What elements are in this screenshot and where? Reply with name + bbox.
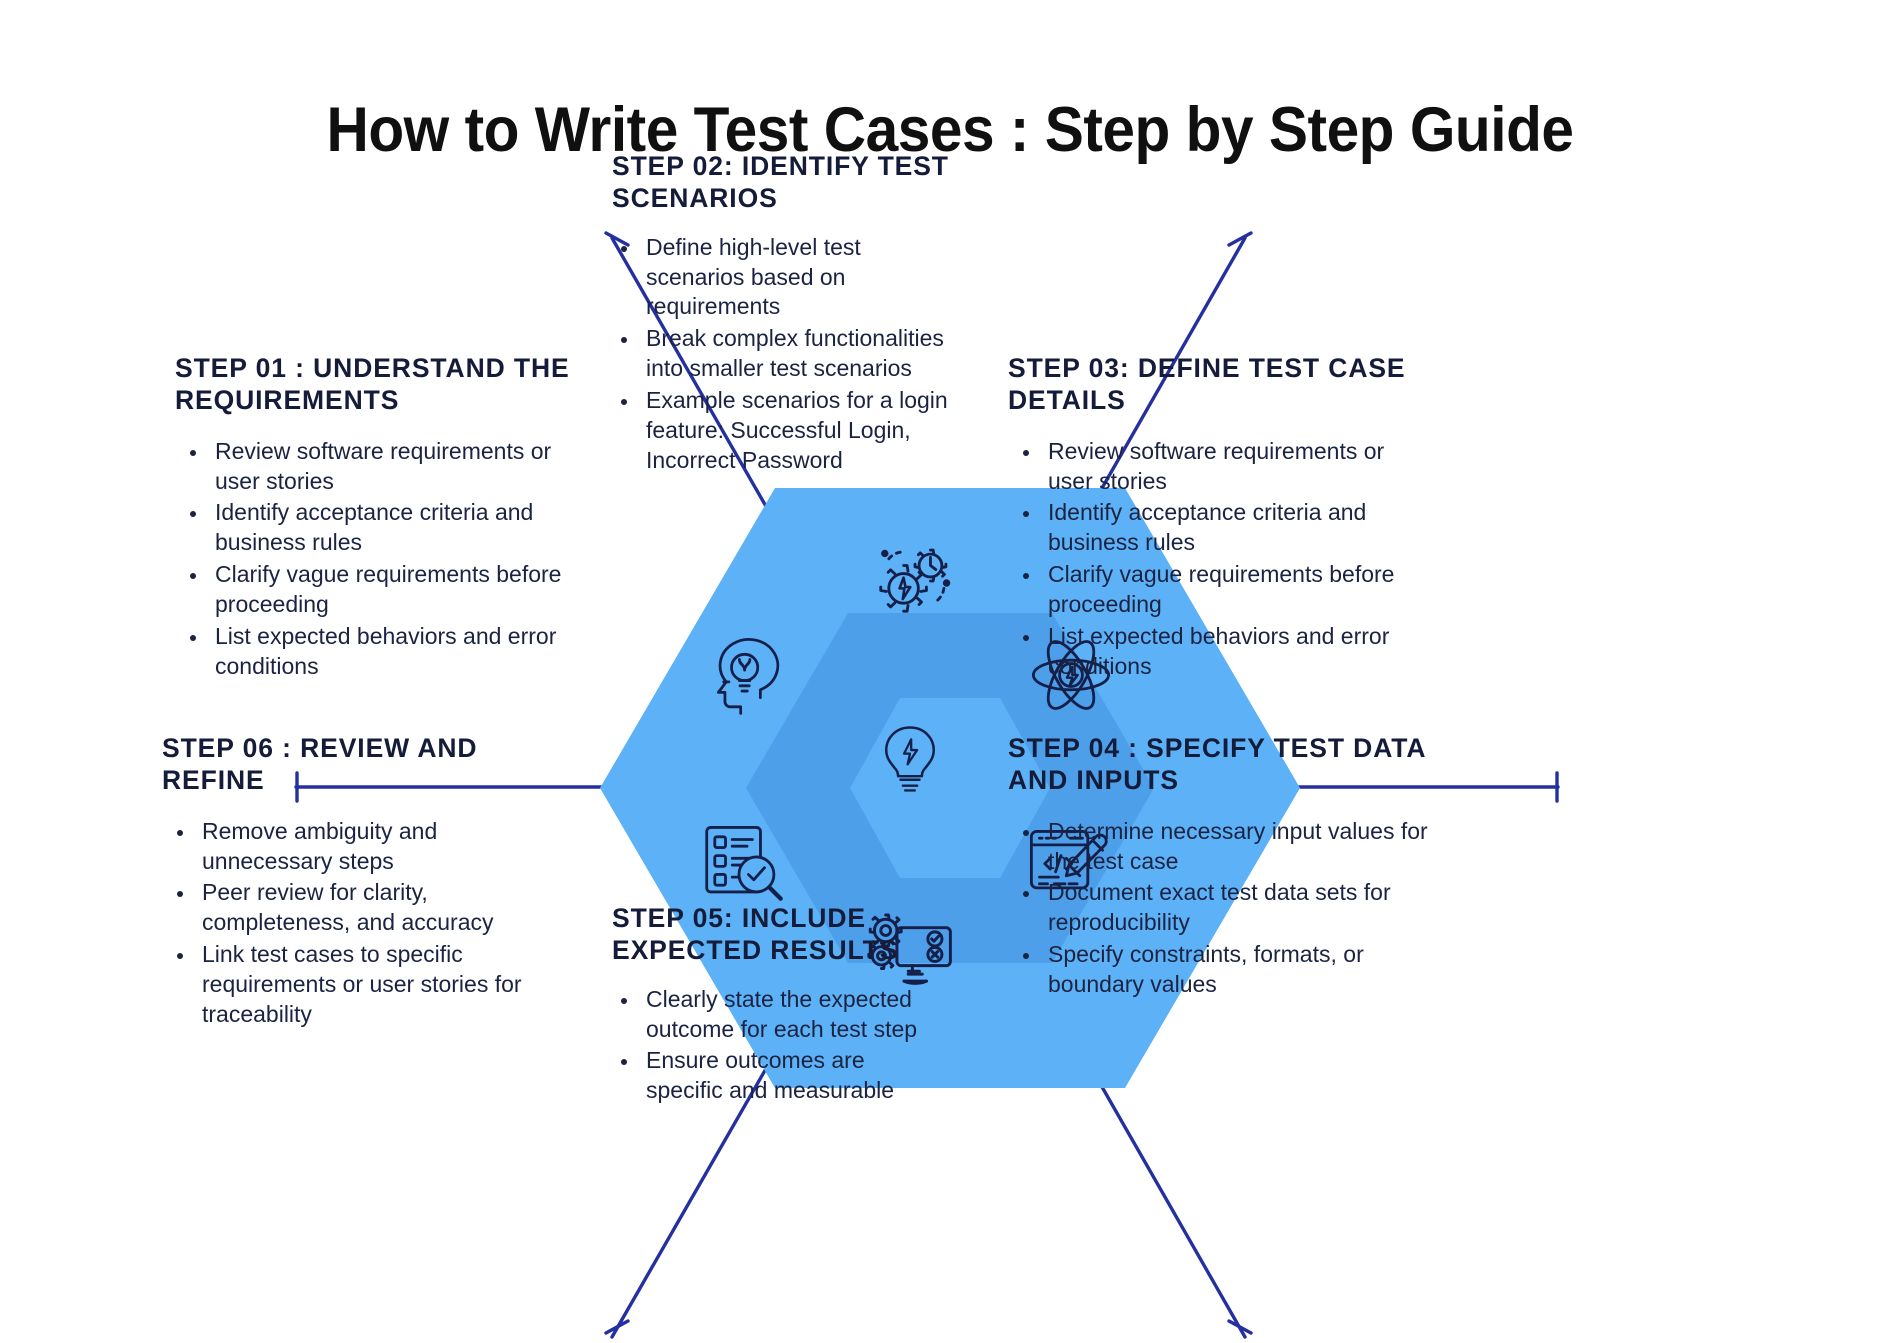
step-block-05: STEP 05: INCLUDE EXPECTED RESULTS Clearl…: [612, 902, 942, 1108]
step-block-02: STEP 02: IDENTIFY TEST SCENARIOS Define …: [612, 150, 952, 478]
list-item: List expected behaviors and error condit…: [1042, 622, 1408, 682]
step-06-bullets: Remove ambiguity and unnecessary steps P…: [162, 817, 562, 1030]
list-item: Clarify vague requirements before procee…: [1042, 560, 1408, 620]
lightbulb-energy-icon: [872, 718, 948, 794]
list-item: Clearly state the expected outcome for e…: [640, 985, 942, 1045]
step-05-bullets: Clearly state the expected outcome for e…: [612, 985, 942, 1107]
step-04-bullets: Determine necessary input values for the…: [1008, 817, 1428, 1000]
step-02-bullets: Define high-level test scenarios based o…: [612, 233, 952, 476]
gears-energy-icon: [870, 540, 956, 626]
list-item: Determine necessary input values for the…: [1042, 817, 1428, 877]
step-03-bullets: Review software requirements or user sto…: [1008, 437, 1408, 682]
list-item: Clarify vague requirements before procee…: [209, 560, 575, 620]
step-02-heading: STEP 02: IDENTIFY TEST SCENARIOS: [612, 150, 952, 215]
step-01-bullets: Review software requirements or user sto…: [175, 437, 575, 682]
step-05-heading: STEP 05: INCLUDE EXPECTED RESULTS: [612, 902, 942, 967]
list-item: Review software requirements or user sto…: [209, 437, 575, 497]
checklist-magnifier-icon: [700, 818, 786, 904]
list-item: Example scenarios for a login feature: S…: [640, 386, 952, 476]
step-06-heading: STEP 06 : REVIEW AND REFINE: [162, 732, 562, 797]
step-01-heading: STEP 01 : UNDERSTAND THE REQUIREMENTS: [175, 352, 575, 417]
step-block-01: STEP 01 : UNDERSTAND THE REQUIREMENTS Re…: [175, 352, 575, 684]
list-item: Ensure outcomes are specific and measura…: [640, 1046, 942, 1106]
list-item: Specify constraints, formats, or boundar…: [1042, 940, 1428, 1000]
list-item: Peer review for clarity, completeness, a…: [196, 878, 562, 938]
list-item: Define high-level test scenarios based o…: [640, 233, 952, 323]
list-item: Document exact test data sets for reprod…: [1042, 878, 1428, 938]
step-03-heading: STEP 03: DEFINE TEST CASE DETAILS: [1008, 352, 1408, 417]
list-item: Break complex functionalities into small…: [640, 324, 952, 384]
list-item: Link test cases to specific requirements…: [196, 940, 562, 1030]
list-item: Remove ambiguity and unnecessary steps: [196, 817, 562, 877]
step-block-03: STEP 03: DEFINE TEST CASE DETAILS Review…: [1008, 352, 1408, 684]
infographic-canvas: How to Write Test Cases : Step by Step G…: [0, 0, 1900, 1343]
head-lightbulb-icon: [700, 632, 784, 716]
list-item: Identify acceptance criteria and busines…: [1042, 498, 1408, 558]
list-item: Identify acceptance criteria and busines…: [209, 498, 575, 558]
step-block-04: STEP 04 : SPECIFY TEST DATA AND INPUTS D…: [1008, 732, 1428, 1002]
list-item: List expected behaviors and error condit…: [209, 622, 575, 682]
step-block-06: STEP 06 : REVIEW AND REFINE Remove ambig…: [162, 732, 562, 1032]
step-04-heading: STEP 04 : SPECIFY TEST DATA AND INPUTS: [1008, 732, 1428, 797]
list-item: Review software requirements or user sto…: [1042, 437, 1408, 497]
